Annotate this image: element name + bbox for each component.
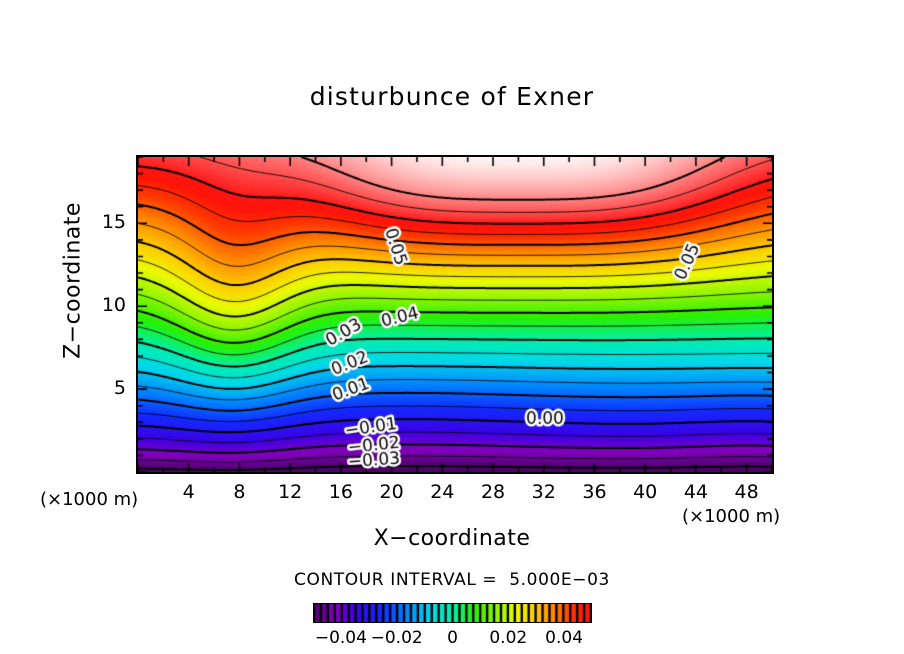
- x-tick-12: 12: [265, 481, 315, 503]
- x-tick-8: 8: [214, 481, 264, 503]
- x-axis-units-right: (×1000 m): [682, 506, 780, 527]
- colorbar-gradient: [314, 604, 591, 622]
- x-tick-24: 24: [417, 481, 467, 503]
- x-tick-20: 20: [367, 481, 417, 503]
- x-axis-units-left: (×1000 m): [40, 489, 138, 510]
- x-tick-32: 32: [519, 481, 569, 503]
- colorbar-tick-4: 0.04: [529, 628, 599, 648]
- x-tick-16: 16: [316, 481, 366, 503]
- x-axis-tick-labels: 4812162024283236404448: [0, 0, 904, 654]
- contour-interval-caption: CONTOUR INTERVAL = 5.000E−03: [0, 570, 904, 590]
- x-tick-28: 28: [468, 481, 518, 503]
- x-tick-44: 44: [671, 481, 721, 503]
- x-tick-4: 4: [164, 481, 214, 503]
- x-tick-36: 36: [569, 481, 619, 503]
- x-tick-48: 48: [722, 481, 772, 503]
- colorbar: [313, 603, 592, 623]
- x-tick-40: 40: [620, 481, 670, 503]
